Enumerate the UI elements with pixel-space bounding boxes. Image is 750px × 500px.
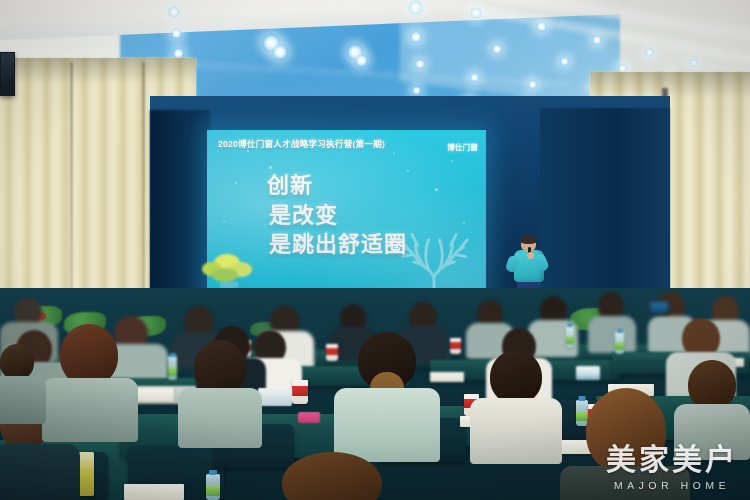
water-bottle [168,356,177,380]
ceiling-downlight [470,73,479,82]
attendee [588,292,636,350]
slide-brand-logo: 博仕门窗 [447,142,478,153]
attendee [470,350,562,462]
ceiling-downlight [415,59,425,69]
cup-band [292,386,308,396]
flower-arrangement [198,252,260,288]
ceiling-downlight [560,57,569,66]
slide-headline-line-3: 是跳出舒适圈 [269,233,407,258]
attendee [0,344,44,420]
slide-header-text: 2020博仕门窗人才战略学习执行营(第一期) [218,138,385,150]
attendee [262,452,402,500]
slide-sparkle [393,152,395,154]
ceiling-downlight [470,7,482,19]
attendee [178,340,262,444]
ceiling-downlight [645,48,654,57]
ceiling-downlight [528,80,537,89]
ceiling-downlight [690,59,698,67]
presenter-hand [527,252,534,259]
pink-pouch [298,412,320,423]
ceiling-downlight [492,44,502,54]
ceiling-downlight [408,0,423,15]
slide-sparkle [451,160,453,162]
water-bottle [566,326,574,348]
wall-speaker-left [0,52,15,96]
bottle-cap [209,470,217,475]
water-bottle [615,332,624,354]
cup-band [450,342,461,349]
bottle-cap [617,329,622,333]
bottle-cap [568,323,573,327]
notebook [258,388,292,406]
bottle-label [566,336,574,344]
water-bottle [206,474,220,500]
curtain-top-shadow [590,72,750,98]
paper-cup [292,380,308,404]
ceiling-downlight [536,21,547,32]
slide-headline: 创新 是改变 是跳出舒适圈 [267,174,407,258]
ceiling-downlight [272,44,288,60]
ceiling-downlight [171,28,182,39]
slide-sparkle [235,182,237,184]
presenter-hair [520,235,537,244]
tissue-box [576,366,600,380]
ceiling-downlight [355,54,368,67]
slide-sparkle [247,150,249,152]
curtain-seam [142,62,145,320]
laptop-screen [650,302,668,313]
slide-sparkle [407,170,409,172]
bottle-cap [170,353,176,357]
ceiling-downlight [412,86,421,95]
flower-foliage [212,268,238,282]
slide-sparkle [435,188,438,191]
bottle-label [206,485,220,496]
attendee [334,332,440,458]
laptop [648,300,670,315]
curtain-seam [70,62,73,320]
handout-paper [124,484,184,500]
ceiling-downlight [410,31,422,43]
ceiling-downlight [168,6,180,18]
attendee [674,360,750,456]
slide-sparkle [269,166,272,169]
attendee [42,324,138,436]
curtain-top-shadow [0,58,196,84]
slide-headline-line-1: 创新 [267,174,407,199]
attendee [560,388,690,500]
bottle-label [168,367,177,376]
slide-sparkle [223,220,225,222]
conference-photo: 2020博仕门窗人才战略学习执行营(第一期) 博仕门窗 创新 是改变 是跳出舒适… [0,0,750,500]
paper-cup [450,338,461,354]
ceiling-downlight [592,35,602,45]
slide-headline-line-2: 是改变 [269,204,407,229]
bottle-label [615,342,624,350]
